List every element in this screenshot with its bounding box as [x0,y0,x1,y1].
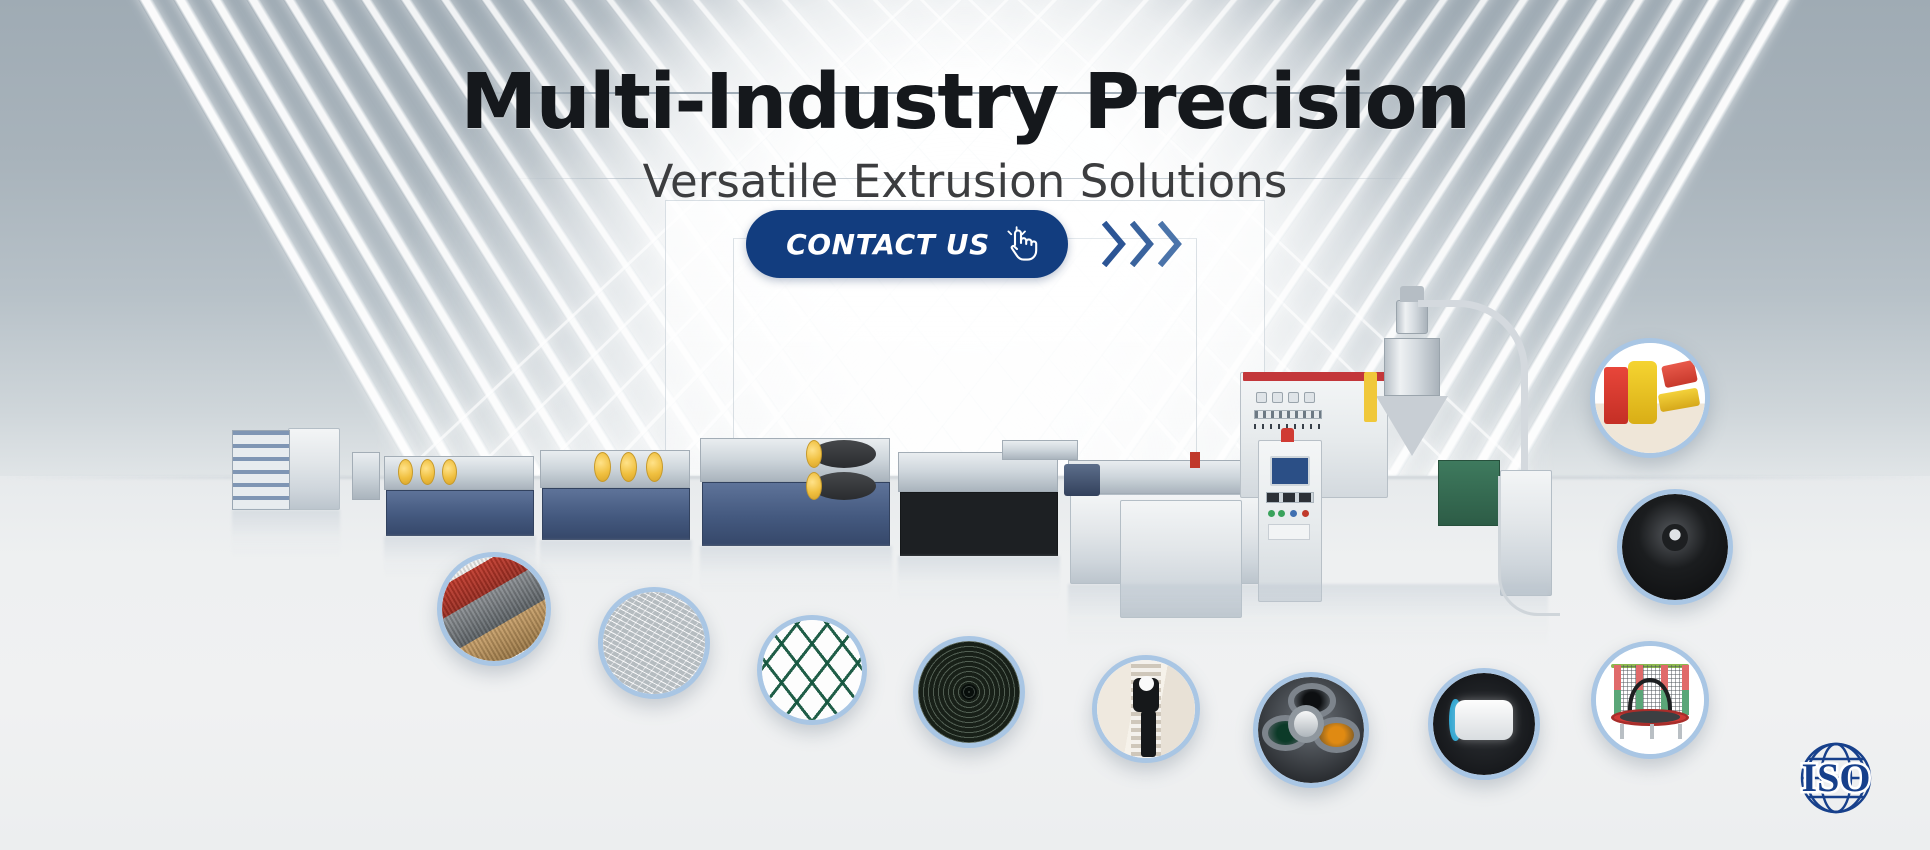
water-tank-reflection [898,556,1060,604]
contact-us-button[interactable]: CONTACT US [746,210,1068,278]
heater-band [1190,452,1200,468]
cta-row: CONTACT US [0,210,1930,278]
product-circle-industrial-brush-strips[interactable] [1590,338,1710,458]
stretch-roller [646,452,663,482]
iso-label: ISO [1802,755,1871,800]
net-icon [762,620,862,720]
water-tank-base [900,492,1058,556]
rope-coil-icon [918,641,1020,743]
cable-drape [1498,476,1560,616]
zipper-icon [1097,660,1195,758]
brush-icon [1595,343,1705,453]
drawing-oven-base [386,490,534,536]
spool-set-icon [1258,677,1364,783]
cabinet-meter [1256,392,1267,403]
cabinet-meter [1288,392,1299,403]
cabinet-meter [1304,392,1315,403]
page-subtitle: Versatile Extrusion Solutions [0,155,1930,208]
winding-rack-spindles [232,430,290,510]
stretching-unit-base [542,488,690,540]
product-circle-filament-spools[interactable] [1253,672,1369,788]
hmi-panel[interactable] [1270,456,1310,486]
hmi-button-red[interactable] [1302,510,1309,517]
die-head [1438,460,1500,526]
product-circle-trimmer-head[interactable] [1617,489,1733,605]
hmi-gauges [1266,492,1314,503]
hmi-button-green[interactable] [1278,510,1285,517]
iso-certification-badge: ISO [1784,726,1888,830]
godet-roller [442,459,457,485]
tank-cover [1002,440,1078,460]
cabinet-switch-row [1254,410,1322,419]
godet-roller [420,459,435,485]
trimmer-head-icon [1622,494,1728,600]
stretch-roller [594,452,611,482]
yarn-bobbin-icon [1433,673,1535,775]
godet-roller [398,459,413,485]
stretch-roller [620,452,637,482]
oven-unit-1 [352,452,380,500]
extruder-reflection [1068,584,1548,646]
iso-globe-icon: ISO [1784,726,1888,830]
product-circle-zipper-tape[interactable] [1092,655,1200,763]
product-circle-trampoline[interactable] [1591,641,1709,759]
product-circle-fishing-net[interactable] [757,615,867,725]
carpet-roll-icon [442,557,546,661]
chevron-right-icon [1102,221,1128,267]
product-circle-coiled-rope[interactable] [913,636,1025,748]
chevron-arrows [1102,221,1184,267]
winding-rack-reflection [232,510,340,558]
page-title: Multi-Industry Precision [0,64,1930,143]
trampoline-icon [1596,646,1704,754]
product-circle-carpet-mat-rolls[interactable] [437,552,551,666]
product-circle-yarn-bobbin[interactable] [1428,668,1540,780]
hmi-button-blue[interactable] [1290,510,1297,517]
extruder-motor [1064,464,1100,496]
annealing-oven-reflection [700,546,892,596]
warning-label [1268,524,1310,540]
chevron-right-icon [1130,221,1156,267]
hero-banner: Multi-Industry Precision Versatile Extru… [0,0,1930,850]
tower-lamp [1281,428,1294,442]
hmi-button-green[interactable] [1268,510,1275,517]
monofilament-icon [603,592,705,694]
stretching-unit [540,450,690,488]
headline-block: Multi-Industry Precision Versatile Extru… [0,64,1930,208]
cabinet-meter [1272,392,1283,403]
stretching-unit-reflection [540,540,692,586]
oven-drum-end [806,440,822,468]
contact-us-label: CONTACT US [786,228,990,261]
hand-pointer-icon [1004,225,1038,263]
hopper-yellow-tag [1364,372,1377,422]
oven-drum-end [806,472,822,500]
product-circle-monofilament-bundle[interactable] [598,587,710,699]
winding-rack [288,428,340,510]
chevron-right-icon [1158,221,1184,267]
